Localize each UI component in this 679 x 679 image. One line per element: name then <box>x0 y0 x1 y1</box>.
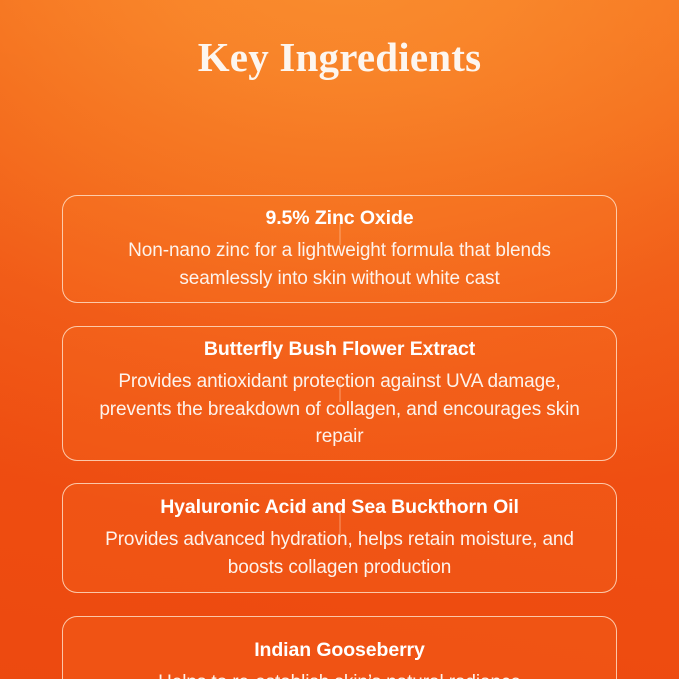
ingredient-card-butterfly-bush-flower-extract: Butterfly Bush Flower Extract Provides a… <box>62 326 617 461</box>
ingredient-heading: Butterfly Bush Flower Extract <box>85 337 594 362</box>
page-title: Key Ingredients <box>0 0 679 81</box>
ingredient-card-hyaluronic-acid-sea-buckthorn-oil: Hyaluronic Acid and Sea Buckthorn Oil Pr… <box>62 483 617 593</box>
ingredient-description: Helps to re-establish skin’s natural rad… <box>85 669 594 679</box>
key-ingredients-infographic: Key Ingredients 9.5% Zinc Oxide Non-nano… <box>0 0 679 679</box>
ingredient-description: Provides advanced hydration, helps retai… <box>85 526 594 581</box>
ingredient-card-indian-gooseberry: Indian Gooseberry Helps to re-establish … <box>62 616 617 679</box>
ingredient-heading: 9.5% Zinc Oxide <box>85 206 594 231</box>
ingredient-description: Non-nano zinc for a lightweight formula … <box>85 237 594 292</box>
ingredient-heading: Indian Gooseberry <box>85 638 594 663</box>
ingredient-heading: Hyaluronic Acid and Sea Buckthorn Oil <box>85 495 594 520</box>
ingredient-card-zinc-oxide: 9.5% Zinc Oxide Non-nano zinc for a ligh… <box>62 195 617 303</box>
ingredient-description: Provides antioxidant protection against … <box>85 368 594 451</box>
